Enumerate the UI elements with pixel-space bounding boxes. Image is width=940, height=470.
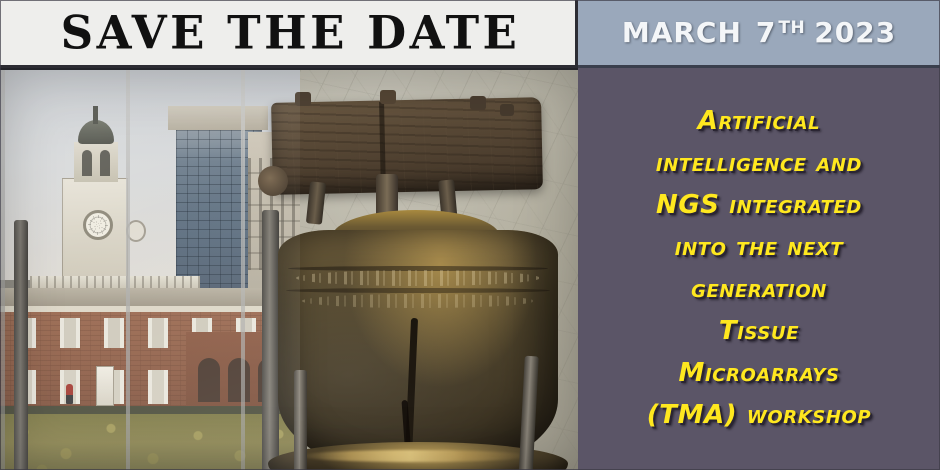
headline-line-3: NGS integrated [656, 184, 862, 226]
event-date-year: 2023 [814, 16, 896, 49]
liberty-bell-photo [0, 68, 578, 470]
poster-title: SAVE THE DATE [55, 10, 521, 56]
headline-line-7: Microarrays [678, 352, 839, 394]
event-date-month: MARCH [622, 16, 742, 49]
event-date-day-suffix: TH [778, 18, 805, 38]
headline-line-1: Artificial [698, 100, 820, 142]
headline-line-6: Tissue [719, 310, 799, 352]
bell-inscription-line-1 [296, 270, 540, 286]
header-band: SAVE THE DATE MARCH7TH2023 [0, 0, 940, 68]
glass-reflection-haze [0, 70, 300, 470]
event-date: MARCH7TH2023 [622, 16, 896, 49]
event-date-panel: MARCH7TH2023 [578, 0, 940, 68]
event-date-day: 7 [756, 16, 776, 49]
yoke-bolt-right [470, 96, 486, 110]
headline-line-2: intelligence and [656, 142, 862, 184]
headline-panel: Artificial intelligence and NGS integrat… [578, 68, 940, 470]
headline-line-8: (TMA) workshop [647, 394, 871, 436]
save-the-date-panel: SAVE THE DATE [0, 0, 578, 68]
save-the-date-poster: SAVE THE DATE MARCH7TH2023 [0, 0, 940, 470]
bell-lip-highlight [300, 450, 530, 462]
bell-band-lower [286, 288, 550, 293]
yoke-bolt-far-right [500, 104, 514, 116]
headline-line-5: generation [691, 268, 827, 310]
bell-inscription-line-2 [302, 294, 534, 308]
yoke-bolt-middle [380, 90, 396, 104]
headline-line-4: into the next [675, 226, 843, 268]
